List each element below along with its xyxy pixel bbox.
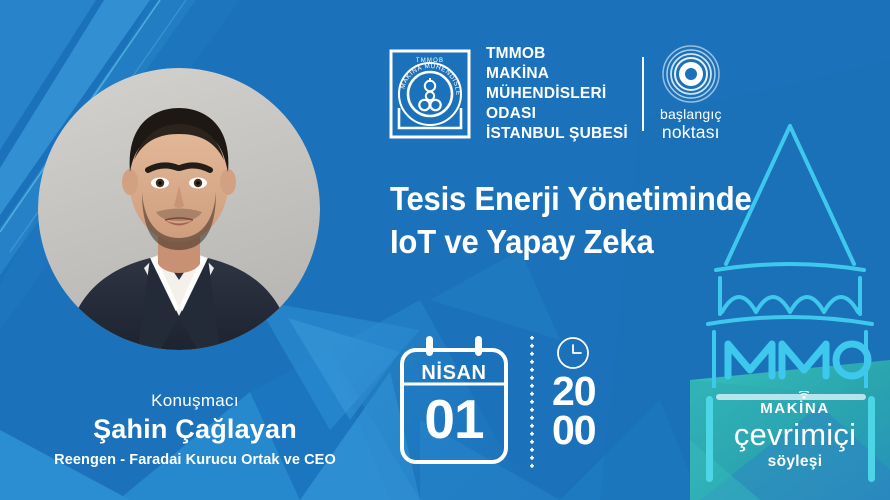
time-hours: 20 <box>552 372 596 411</box>
brand-line-cevrimici: çevrimiçi <box>700 419 890 452</box>
speaker-label: Konuşmacı <box>0 390 390 412</box>
org-line-1: MAKİNA <box>486 64 628 84</box>
org-line-4: İSTANBUL ŞUBESİ <box>486 124 628 144</box>
brand-makina-text: MAKİNA <box>760 400 830 417</box>
brand-line-makina: MAKİNA <box>760 400 830 417</box>
calendar-month: NİSAN <box>398 362 510 385</box>
makina-cevrimici-soylesi-logo: MAKİNA çevrimiçi söyleşi <box>700 386 890 500</box>
speaker-info: Konuşmacı Şahin Çağlayan Reengen - Farad… <box>0 390 390 470</box>
header-logos: TMMOB MAKİNA MÜHENDİSLERİ ODASI TMMOB MA… <box>388 44 722 144</box>
speaker-role: Reengen - Faradai Kurucu Ortak ve CEO <box>0 451 390 470</box>
org-line-0: TMMOB <box>486 44 628 64</box>
event-time: 20 00 <box>552 336 596 451</box>
organization-name: TMMOB MAKİNA MÜHENDİSLERİ ODASI İSTANBUL… <box>486 44 628 144</box>
org-line-3: ODASI <box>486 104 628 124</box>
speaker-portrait <box>38 68 320 350</box>
brand-line-soylesi: söyleşi <box>700 453 890 471</box>
header-divider <box>642 57 644 131</box>
event-poster: Konuşmacı Şahin Çağlayan Reengen - Farad… <box>0 0 890 500</box>
event-datetime: NİSAN 01 <box>398 336 596 468</box>
calendar-icon: NİSAN 01 <box>398 336 510 466</box>
clock-icon <box>556 336 590 370</box>
speaker-name: Şahin Çağlayan <box>0 413 390 447</box>
tmmob-emblem-icon: TMMOB MAKİNA MÜHENDİSLERİ ODASI <box>388 48 472 140</box>
calendar-day: 01 <box>398 392 510 447</box>
dotted-divider-icon <box>518 336 546 468</box>
concentric-rings-icon <box>662 45 720 103</box>
wifi-dot-icon <box>799 391 809 400</box>
galata-tower-icon <box>690 118 890 388</box>
time-minutes: 00 <box>552 411 596 450</box>
org-line-2: MÜHENDİSLERİ <box>486 84 628 104</box>
